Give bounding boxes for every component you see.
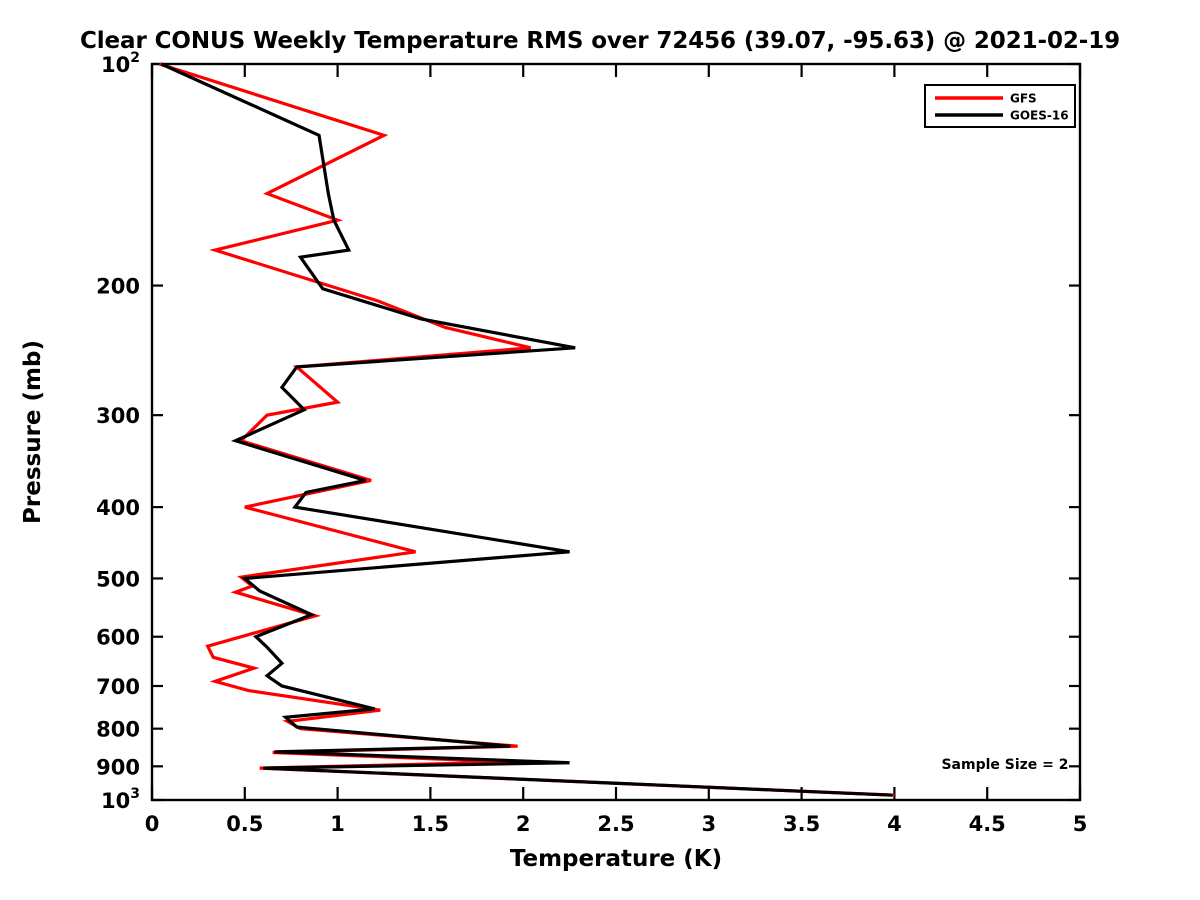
- y-tick-label: 103: [101, 786, 140, 813]
- y-tick-label: 400: [96, 496, 140, 520]
- legend: GFSGOES-16: [925, 85, 1075, 127]
- plot-svg: 10220030040050060070080090010300.511.522…: [0, 0, 1200, 900]
- y-tick-label: 700: [96, 675, 140, 699]
- y-tick-label: 102: [101, 50, 140, 77]
- y-axis: 102200300400500600700800900103: [96, 50, 1080, 813]
- series-line-goes-16: [161, 64, 892, 795]
- sample-size-annotation: Sample Size = 2: [941, 757, 1068, 773]
- x-tick-label: 5: [1073, 812, 1088, 836]
- x-tick-label: 4: [887, 812, 902, 836]
- y-tick-label: 300: [96, 404, 140, 428]
- y-tick-label: 200: [96, 275, 140, 299]
- y-axis-title: Pressure (mb): [20, 340, 46, 524]
- y-tick-label: 600: [96, 626, 140, 650]
- x-axis-title: Temperature (K): [510, 846, 722, 872]
- y-tick-label: 800: [96, 718, 140, 742]
- series-line-gfs: [159, 64, 894, 795]
- x-tick-label: 2.5: [597, 812, 634, 836]
- x-tick-label: 0: [145, 812, 160, 836]
- x-tick-label: 2: [516, 812, 531, 836]
- legend-label-goes-16: GOES-16: [1010, 109, 1069, 123]
- x-tick-label: 4.5: [969, 812, 1006, 836]
- x-tick-label: 3.5: [783, 812, 820, 836]
- x-tick-label: 1: [330, 812, 345, 836]
- legend-label-gfs: GFS: [1010, 92, 1037, 106]
- y-tick-label: 500: [96, 567, 140, 591]
- x-tick-label: 1.5: [412, 812, 449, 836]
- x-tick-label: 0.5: [226, 812, 263, 836]
- figure-canvas: Clear CONUS Weekly Temperature RMS over …: [0, 0, 1200, 900]
- y-tick-label: 900: [96, 755, 140, 779]
- x-tick-label: 3: [701, 812, 716, 836]
